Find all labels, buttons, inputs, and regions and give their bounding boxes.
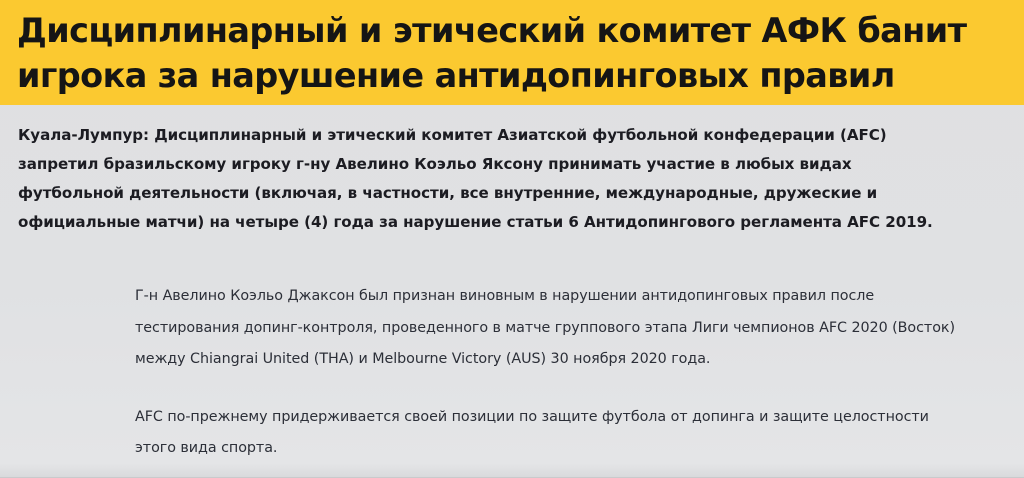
headline-line-1: Дисциплинарный и этический комитет АФК б… [17,8,1008,53]
body-paragraph-1: Г-н Авелино Коэльо Джаксон был признан в… [135,281,935,376]
lead-line-2: запретил бразильскому игроку г-ну Авелин… [18,150,1010,179]
body-paragraph-2-line-2: этого вида спорта. [135,433,935,465]
headline-line-2: игрока за нарушение антидопинговых прави… [17,53,1008,98]
body-paragraph-2: AFC по-прежнему придерживается своей поз… [135,402,935,465]
lead-line-3: футбольной деятельности (включая, в част… [18,179,1010,208]
lead-line-4: официальные матчи) на четыре (4) года за… [18,208,1010,237]
headline-banner: Дисциплинарный и этический комитет АФК б… [0,0,1024,105]
lead-line-1: Куала-Лумпур: Дисциплинарный и этический… [18,121,1010,150]
page-title: Дисциплинарный и этический комитет АФК б… [17,8,1008,98]
article-page: Дисциплинарный и этический комитет АФК б… [0,0,1024,478]
article-body: Г-н Авелино Коэльо Джаксон был признан в… [135,281,935,465]
body-paragraph-1-line-1: Г-н Авелино Коэльо Джаксон был признан в… [135,281,935,313]
body-paragraph-2-line-1: AFC по-прежнему придерживается своей поз… [135,402,935,434]
body-paragraph-1-line-3: между Chiangrai United (THA) и Melbourne… [135,344,935,376]
lead-paragraph: Куала-Лумпур: Дисциплинарный и этический… [18,121,1010,237]
body-paragraph-1-line-2: тестирования допинг-контроля, проведенно… [135,313,935,345]
